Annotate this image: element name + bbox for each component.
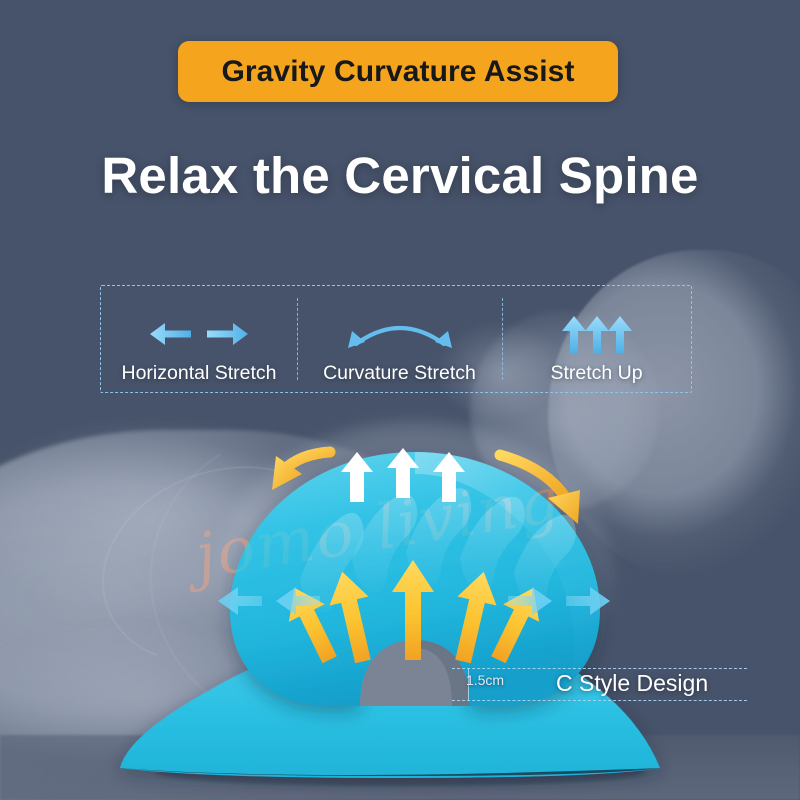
style-label: C Style Design [556, 670, 708, 697]
ear-silhouette [120, 505, 300, 655]
feature-stretch-up: Stretch Up [502, 286, 691, 392]
traction-arrow-left [272, 452, 330, 490]
feature-horizontal-stretch: Horizontal Stretch [101, 286, 297, 392]
shoulder-silhouette [0, 380, 410, 630]
body-contour-line [77, 436, 376, 696]
floor-shadow [0, 735, 800, 800]
base-ground-shadow [155, 758, 645, 786]
torso-silhouette [0, 430, 500, 800]
support-arrows-yellow [277, 560, 552, 669]
pillow-highlight [415, 452, 600, 676]
badge-label: Gravity Curvature Assist [221, 55, 574, 89]
feature-curvature-stretch: Curvature Stretch [297, 286, 502, 392]
product-halo [215, 420, 615, 730]
lift-arrows-white [341, 448, 465, 502]
left-right-arrows-icon [147, 308, 251, 360]
page-title: Relax the Cervical Spine [0, 146, 800, 205]
inner-profile-ridges [300, 488, 576, 612]
feature-label: Stretch Up [550, 362, 642, 385]
feature-label: Horizontal Stretch [122, 362, 277, 385]
triple-up-arrows-icon [545, 308, 649, 360]
base-seam [400, 634, 402, 700]
spread-arrows-right [508, 587, 610, 615]
arm-silhouette [0, 600, 390, 790]
pillow-base [120, 632, 660, 778]
spread-arrows-left [218, 587, 320, 615]
dimension-line-bottom [452, 700, 747, 701]
base-bottom-edge [120, 768, 660, 776]
dimension-line-top [452, 668, 747, 669]
dimension-label: 1.5cm [452, 672, 518, 688]
brand-watermark: jomo living [190, 453, 626, 592]
badge-gravity-curvature-assist: Gravity Curvature Assist [178, 41, 618, 102]
feature-strip: Horizontal Stretch Curvature Stretch [100, 285, 692, 393]
feature-label: Curvature Stretch [323, 362, 476, 385]
product-infographic-canvas: Gravity Curvature Assist Relax the Cervi… [0, 0, 800, 800]
traction-arrow-right [500, 455, 580, 524]
curved-double-arrow-icon [340, 308, 460, 360]
body-contour-line [122, 400, 500, 762]
